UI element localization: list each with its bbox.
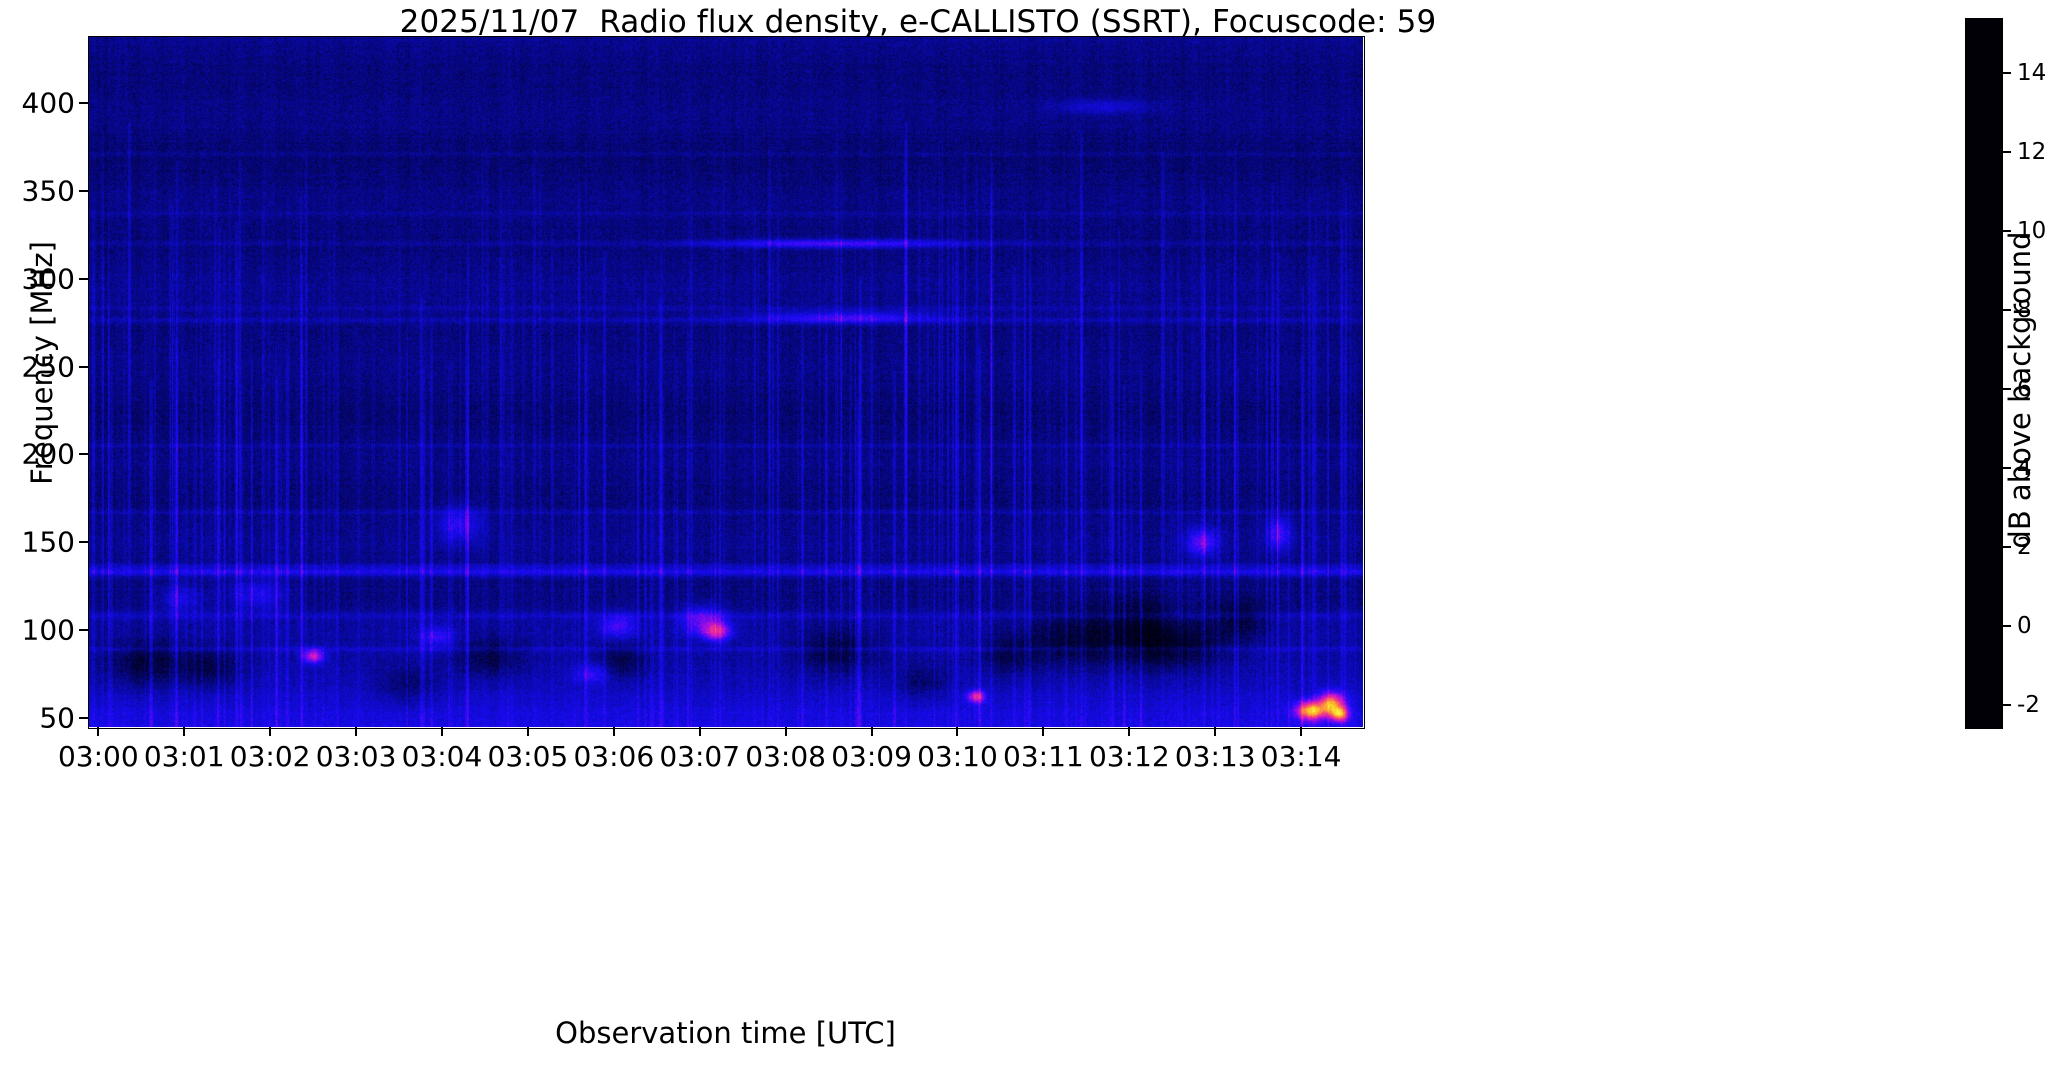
- y-axis-label: Frequency [MHz]: [25, 33, 59, 693]
- x-tick-mark: [355, 727, 357, 736]
- y-tick-mark: [79, 366, 88, 368]
- x-axis-ticks: 03:0003:0103:0203:0303:0403:0503:0603:07…: [88, 727, 1363, 787]
- y-tick-mark: [79, 629, 88, 631]
- colorbar-tick-mark: [2003, 72, 2011, 74]
- x-tick-label: 03:07: [659, 740, 740, 773]
- colorbar-gradient-box: [1965, 18, 2003, 729]
- spectrogram-plot-area[interactable]: [88, 36, 1363, 727]
- y-tick-mark: [79, 541, 88, 543]
- figure-title: 2025/11/07 Radio flux density, e-CALLIST…: [0, 4, 1836, 40]
- spectrogram-canvas: [88, 36, 1363, 727]
- x-tick-mark: [871, 727, 873, 736]
- x-axis-label: Observation time [UTC]: [88, 1016, 1363, 1050]
- radio-spectrogram-figure: 2025/11/07 Radio flux density, e-CALLIST…: [0, 0, 2066, 1067]
- x-tick-mark: [441, 727, 443, 736]
- x-tick-mark: [785, 727, 787, 736]
- colorbar-label: dB above background: [2003, 80, 2037, 700]
- x-tick-mark: [1214, 727, 1216, 736]
- x-tick-mark: [1128, 727, 1130, 736]
- x-tick-label: 03:06: [573, 740, 654, 773]
- colorbar: -202468101214 dB above background: [1965, 18, 2066, 749]
- x-tick-mark: [183, 727, 185, 736]
- x-tick-label: 03:01: [144, 740, 225, 773]
- colorbar-gradient: [1966, 19, 2002, 728]
- y-tick-mark: [79, 190, 88, 192]
- x-tick-mark: [269, 727, 271, 736]
- x-tick-mark: [1300, 727, 1302, 736]
- x-tick-label: 03:04: [402, 740, 483, 773]
- x-tick-label: 03:11: [1003, 740, 1084, 773]
- x-tick-label: 03:09: [831, 740, 912, 773]
- x-tick-mark: [97, 727, 99, 736]
- x-tick-mark: [527, 727, 529, 736]
- x-tick-mark: [613, 727, 615, 736]
- colorbar-tick-mark: [2003, 704, 2011, 706]
- y-tick-mark: [79, 717, 88, 719]
- y-tick-mark: [79, 278, 88, 280]
- x-tick-mark: [699, 727, 701, 736]
- x-tick-label: 03:12: [1089, 740, 1170, 773]
- x-tick-label: 03:14: [1261, 740, 1342, 773]
- x-tick-mark: [956, 727, 958, 736]
- x-tick-label: 03:08: [745, 740, 826, 773]
- x-tick-mark: [1042, 727, 1044, 736]
- x-tick-label: 03:02: [230, 740, 311, 773]
- x-tick-label: 03:00: [58, 740, 139, 773]
- x-tick-label: 03:05: [488, 740, 569, 773]
- x-tick-label: 03:13: [1175, 740, 1256, 773]
- y-tick-mark: [79, 453, 88, 455]
- y-tick-label: 50: [39, 702, 75, 735]
- x-tick-label: 03:10: [917, 740, 998, 773]
- y-tick-mark: [79, 102, 88, 104]
- x-tick-label: 03:03: [316, 740, 397, 773]
